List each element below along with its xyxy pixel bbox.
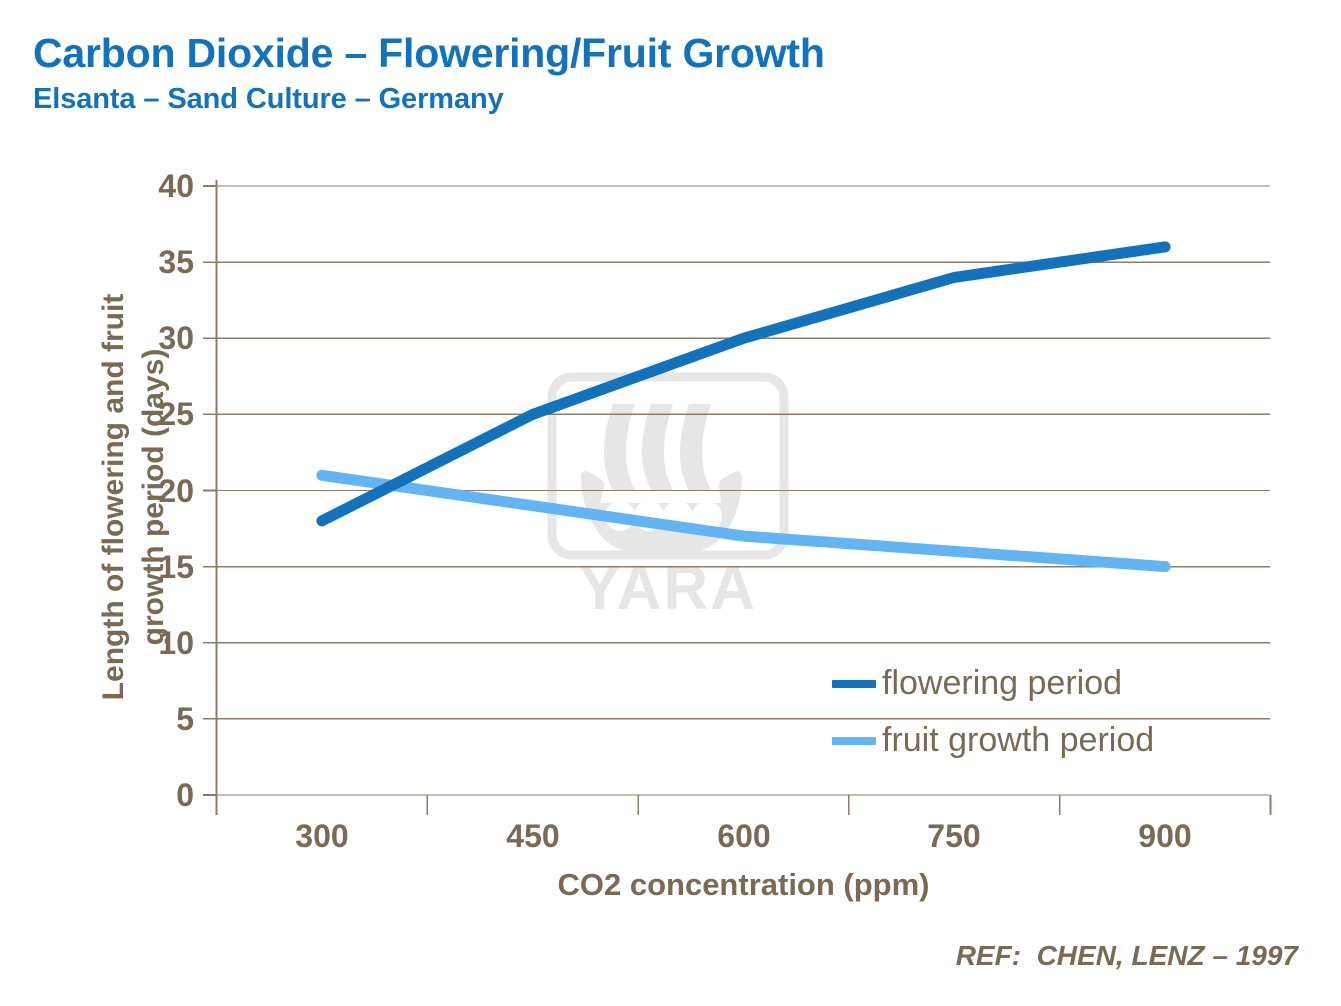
chart-svg bbox=[0, 0, 1341, 1006]
y-axis-title: Length of flowering and fruit growth per… bbox=[94, 187, 174, 807]
legend-label-fruit-growth-period: fruit growth period bbox=[882, 721, 1154, 760]
series-line-flowering-period bbox=[322, 247, 1165, 521]
x-axis-title: CO2 concentration (ppm) bbox=[216, 867, 1271, 903]
x-tick-marks bbox=[217, 795, 1271, 815]
legend-item-fruit-growth-period[interactable]: fruit growth period bbox=[832, 712, 1154, 769]
chart-plot-area: 40 35 30 25 20 15 10 5 0 300 450 600 750… bbox=[0, 0, 1341, 1006]
x-tick-label-750: 750 bbox=[874, 818, 1034, 855]
legend-item-flowering-period[interactable]: flowering period bbox=[832, 655, 1154, 712]
x-tick-label-300: 300 bbox=[242, 818, 402, 855]
legend-swatch-flowering-period bbox=[832, 680, 876, 688]
reference-note: REF: CHEN, LENZ – 1997 bbox=[956, 940, 1298, 972]
x-tick-label-450: 450 bbox=[453, 818, 613, 855]
y-tick-marks bbox=[203, 186, 216, 795]
x-tick-label-900: 900 bbox=[1085, 818, 1245, 855]
series-line-fruit-growth-period bbox=[322, 475, 1165, 566]
chart-legend: flowering period fruit growth period bbox=[832, 655, 1154, 769]
legend-swatch-fruit-growth-period bbox=[832, 737, 876, 745]
x-tick-label-600: 600 bbox=[664, 818, 824, 855]
legend-label-flowering-period: flowering period bbox=[882, 664, 1122, 703]
